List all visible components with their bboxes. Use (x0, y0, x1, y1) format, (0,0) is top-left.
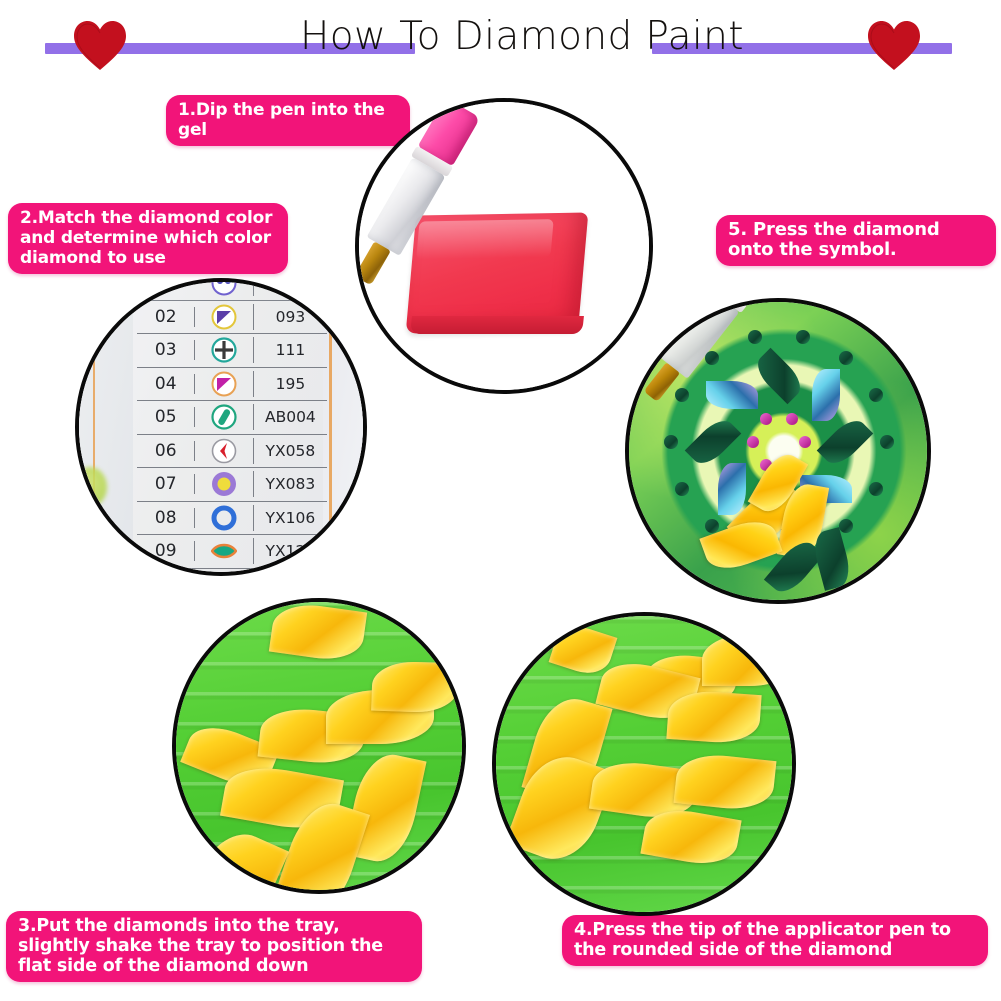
page-title: How To Diamond Paint (300, 12, 740, 62)
diamond-gem (812, 369, 840, 421)
diamond-gem (839, 351, 853, 365)
symbol-triangle-icon (211, 304, 237, 330)
step-3-photo (172, 598, 466, 894)
symbol-ring-icon (211, 505, 237, 531)
row-symbol-cell (195, 538, 253, 564)
diamond-gem (869, 482, 883, 496)
row-color-code: 111 (254, 341, 327, 359)
row-symbol-cell (195, 337, 253, 363)
table-row: 03 111 (137, 334, 327, 368)
diamond-gem (799, 436, 811, 448)
table-row: 06 YX058 (137, 435, 327, 469)
mandala-canvas (629, 302, 927, 600)
heart-icon (72, 19, 128, 71)
symbol-chevron-left-icon (211, 438, 237, 464)
row-number: 09 (137, 541, 195, 561)
diamond-gem (706, 381, 758, 409)
diamond-gem (839, 519, 853, 533)
row-symbol-cell (195, 304, 253, 330)
header: How To Diamond Paint (0, 0, 1001, 90)
row-color-code: YX106 (254, 509, 327, 527)
table-row: 08YX106 (137, 502, 327, 536)
step-4-label: 4.Press the tip of the applicator pen to… (562, 915, 988, 966)
diamond-gem (786, 413, 798, 425)
row-symbol-cell (195, 471, 253, 497)
diamond-gem (664, 435, 678, 449)
diamond-gem (747, 436, 759, 448)
symbol-dot-icon (211, 471, 237, 497)
row-color-code: 020 (254, 278, 327, 292)
diamond-gem (796, 330, 810, 344)
row-number: 06 (137, 441, 195, 461)
table-row: 05 AB004 (137, 401, 327, 435)
step-5-label: 5. Press the diamond onto the symbol. (716, 215, 996, 266)
table-row: 020 (137, 278, 327, 301)
row-symbol-cell (195, 505, 253, 531)
step-2-label: 2.Match the diamond color and determine … (8, 203, 288, 274)
row-number: 07 (137, 474, 195, 494)
color-code-table: 02002 09303 11104 19505 AB00406 YX05807Y… (137, 278, 327, 569)
row-symbol-cell (195, 371, 253, 397)
diamond-gem (810, 527, 854, 591)
table-row: 09YX125 (137, 535, 327, 569)
row-color-code: 195 (254, 375, 327, 393)
diamond-gem (675, 388, 689, 402)
row-number: 02 (137, 307, 195, 327)
diamond-gem (685, 414, 742, 471)
symbol-leaf-icon (211, 538, 237, 564)
row-number: 03 (137, 340, 195, 360)
row-number: 05 (137, 407, 195, 427)
gel-pad-edge (410, 316, 584, 334)
diamond-gem (702, 634, 796, 686)
diamond-gem (880, 435, 894, 449)
symbol-triangle-icon (211, 371, 237, 397)
diamond-gem (718, 463, 746, 515)
diamond-gem (675, 482, 689, 496)
pen-tip (355, 241, 391, 285)
canvas-symbol-mark (75, 544, 107, 576)
table-row: 07YX083 (137, 468, 327, 502)
step-3-label: 3.Put the diamonds into the tray, slight… (6, 911, 422, 982)
diamond-gem (751, 348, 808, 405)
row-symbol-cell (195, 278, 253, 296)
step-4-photo (492, 612, 796, 916)
heart-icon (866, 19, 922, 71)
row-color-code: YX125 (254, 542, 327, 560)
step-5-photo (625, 298, 931, 604)
diamond-gem (817, 414, 874, 471)
canvas-paint-blob (75, 467, 107, 507)
canvas-right-margin (323, 282, 363, 572)
table-row: 02 093 (137, 301, 327, 335)
row-number: 08 (137, 508, 195, 528)
row-symbol-cell (195, 404, 253, 430)
step-2-photo: 02002 09303 11104 19505 AB00406 YX05807Y… (75, 278, 367, 576)
diamond-gem (760, 413, 772, 425)
symbol-diagonal-bar-icon (211, 404, 237, 430)
symbol-double-dot-circle-icon (211, 278, 237, 296)
diamond-gem (705, 351, 719, 365)
symbol-cross-icon (211, 337, 237, 363)
row-color-code: 093 (254, 308, 327, 326)
row-color-code: YX058 (254, 442, 327, 460)
diamond-gem (748, 330, 762, 344)
table-row: 04 195 (137, 368, 327, 402)
row-color-code: YX083 (254, 475, 327, 493)
step-1-photo (355, 98, 653, 394)
row-color-code: AB004 (254, 408, 327, 426)
row-number: 04 (137, 374, 195, 394)
row-symbol-cell (195, 438, 253, 464)
canvas-left-margin (79, 282, 133, 572)
diamond-gem (869, 388, 883, 402)
infographic-canvas: How To Diamond Paint 1.Dip the pen into … (0, 0, 1001, 1001)
